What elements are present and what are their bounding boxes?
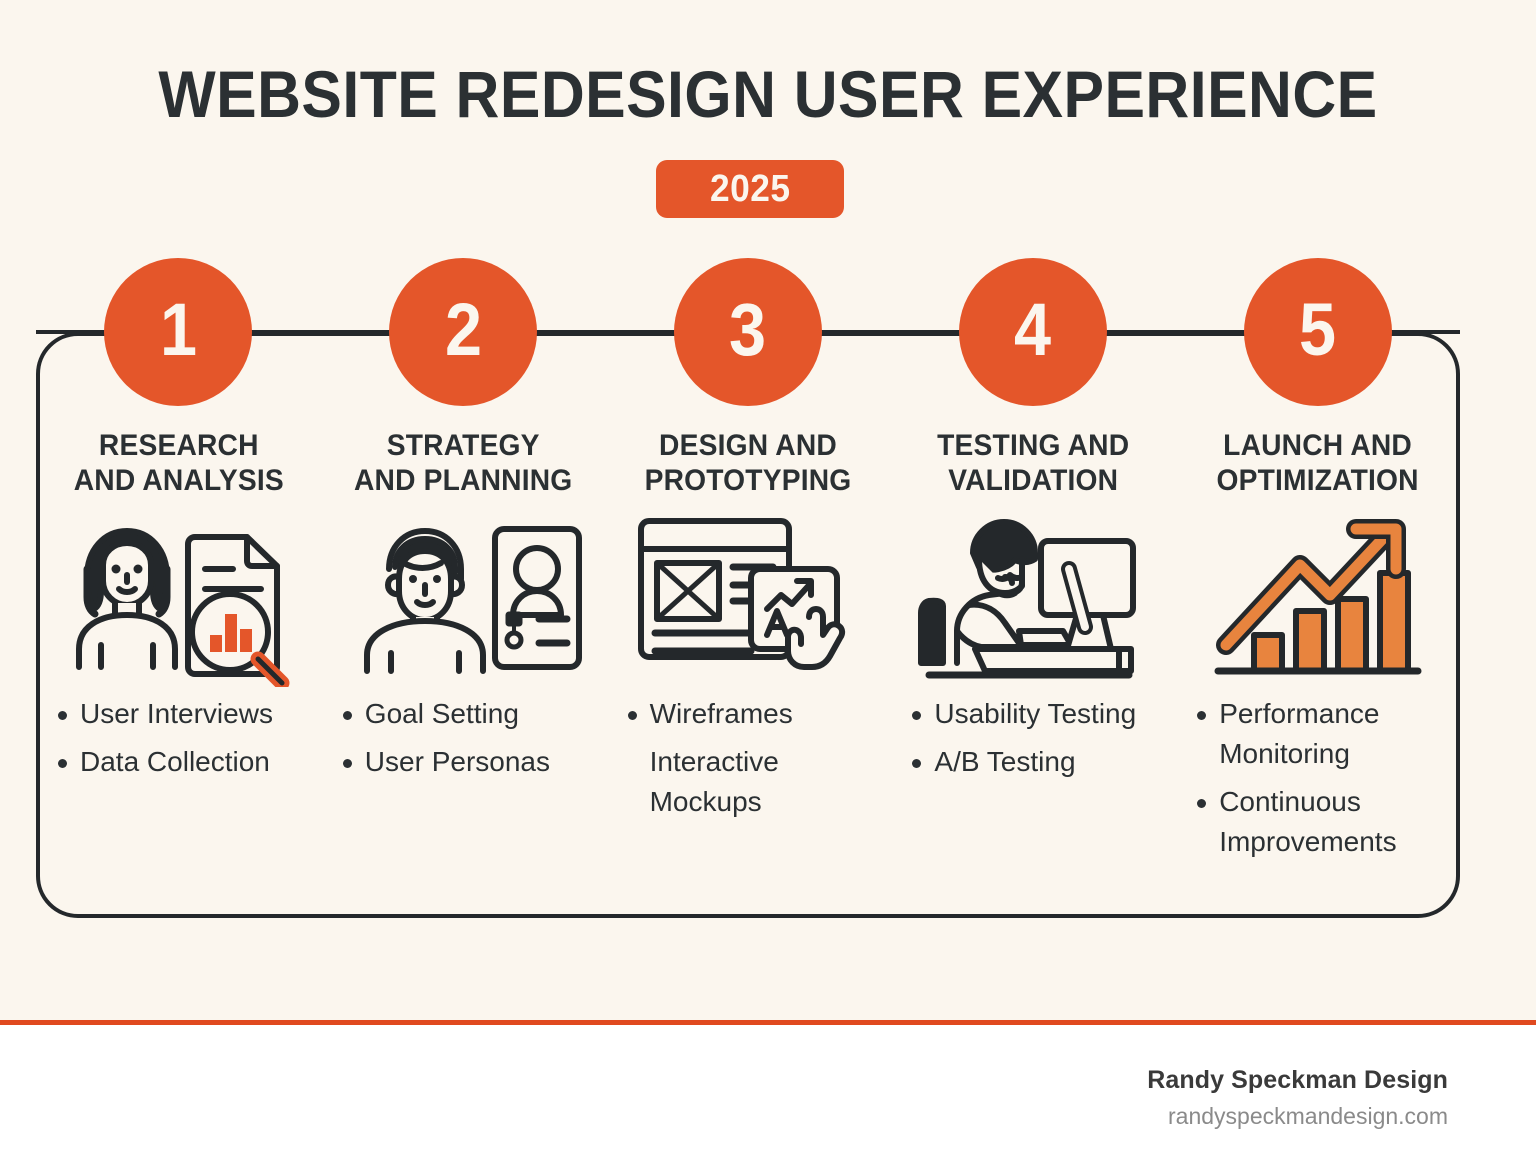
growth-chart-icon — [1175, 504, 1460, 690]
step-3[interactable]: 3 DESIGN AND PROTOTYPING — [606, 258, 891, 870]
step-number-2: 2 — [445, 293, 482, 367]
page-title: WEBSITE REDESIGN USER EXPERIENCE — [61, 58, 1474, 130]
step-number-3: 3 — [729, 293, 766, 367]
list-item: Goal Setting — [339, 694, 600, 734]
bullet-list-1: User Interviews Data Collection — [36, 694, 321, 790]
list-item: User Interviews — [54, 694, 315, 734]
step-title-5: LAUNCH AND OPTIMIZATION — [1216, 428, 1418, 498]
list-item: Data Collection — [54, 742, 315, 782]
step-title-4: TESTING AND VALIDATION — [937, 428, 1129, 498]
step-5[interactable]: 5 LAUNCH AND OPTIMIZATION — [1175, 258, 1460, 870]
step-title-3: DESIGN AND PROTOTYPING — [645, 428, 852, 498]
step-1[interactable]: 1 RESEARCH AND ANALYSIS — [36, 258, 321, 870]
step-title-2: STRATEGY AND PLANNING — [354, 428, 572, 498]
step-number-4: 4 — [1014, 293, 1051, 367]
list-item: Usability Testing — [908, 694, 1169, 734]
year-badge: 2025 — [656, 160, 844, 218]
step-number-badge-5: 5 — [1244, 258, 1392, 406]
bullet-list-2: Goal Setting User Personas — [321, 694, 606, 790]
list-item: A/B Testing — [908, 742, 1169, 782]
step-number-badge-1: 1 — [104, 258, 252, 406]
step-number-1: 1 — [160, 293, 197, 367]
step-number-badge-3: 3 — [674, 258, 822, 406]
footer-brand-name: Randy Speckman Design — [1147, 1066, 1448, 1095]
step-number-badge-4: 4 — [959, 258, 1107, 406]
list-item: Interactive Mockups — [624, 742, 885, 822]
list-item: Continuous Improvements — [1193, 782, 1454, 862]
infographic-root: WEBSITE REDESIGN USER EXPERIENCE 2025 1 … — [0, 0, 1536, 1154]
step-2[interactable]: 2 STRATEGY AND PLANNING — [321, 258, 606, 870]
bullet-list-3: Wireframes Interactive Mockups — [606, 694, 891, 830]
list-item: Performance Monitoring — [1193, 694, 1454, 774]
persona-card-icon — [321, 504, 606, 690]
step-title-1: RESEARCH AND ANALYSIS — [73, 428, 283, 498]
steps-container: 1 RESEARCH AND ANALYSIS — [36, 258, 1460, 870]
user-at-computer-icon — [890, 504, 1175, 690]
footer: Randy Speckman Design randyspeckmandesig… — [0, 1025, 1536, 1154]
wireframe-prototype-icon — [606, 504, 891, 690]
list-item: User Personas — [339, 742, 600, 782]
user-research-icon — [36, 504, 321, 690]
list-item: Wireframes — [624, 694, 885, 734]
bullet-list-4: Usability Testing A/B Testing — [890, 694, 1175, 790]
step-number-badge-2: 2 — [389, 258, 537, 406]
year-badge-label: 2025 — [710, 168, 790, 211]
step-number-5: 5 — [1299, 293, 1336, 367]
bullet-list-5: Performance Monitoring Continuous Improv… — [1175, 694, 1460, 870]
step-4[interactable]: 4 TESTING AND VALIDATION — [890, 258, 1175, 870]
footer-website-url[interactable]: randyspeckmandesign.com — [1168, 1103, 1448, 1130]
